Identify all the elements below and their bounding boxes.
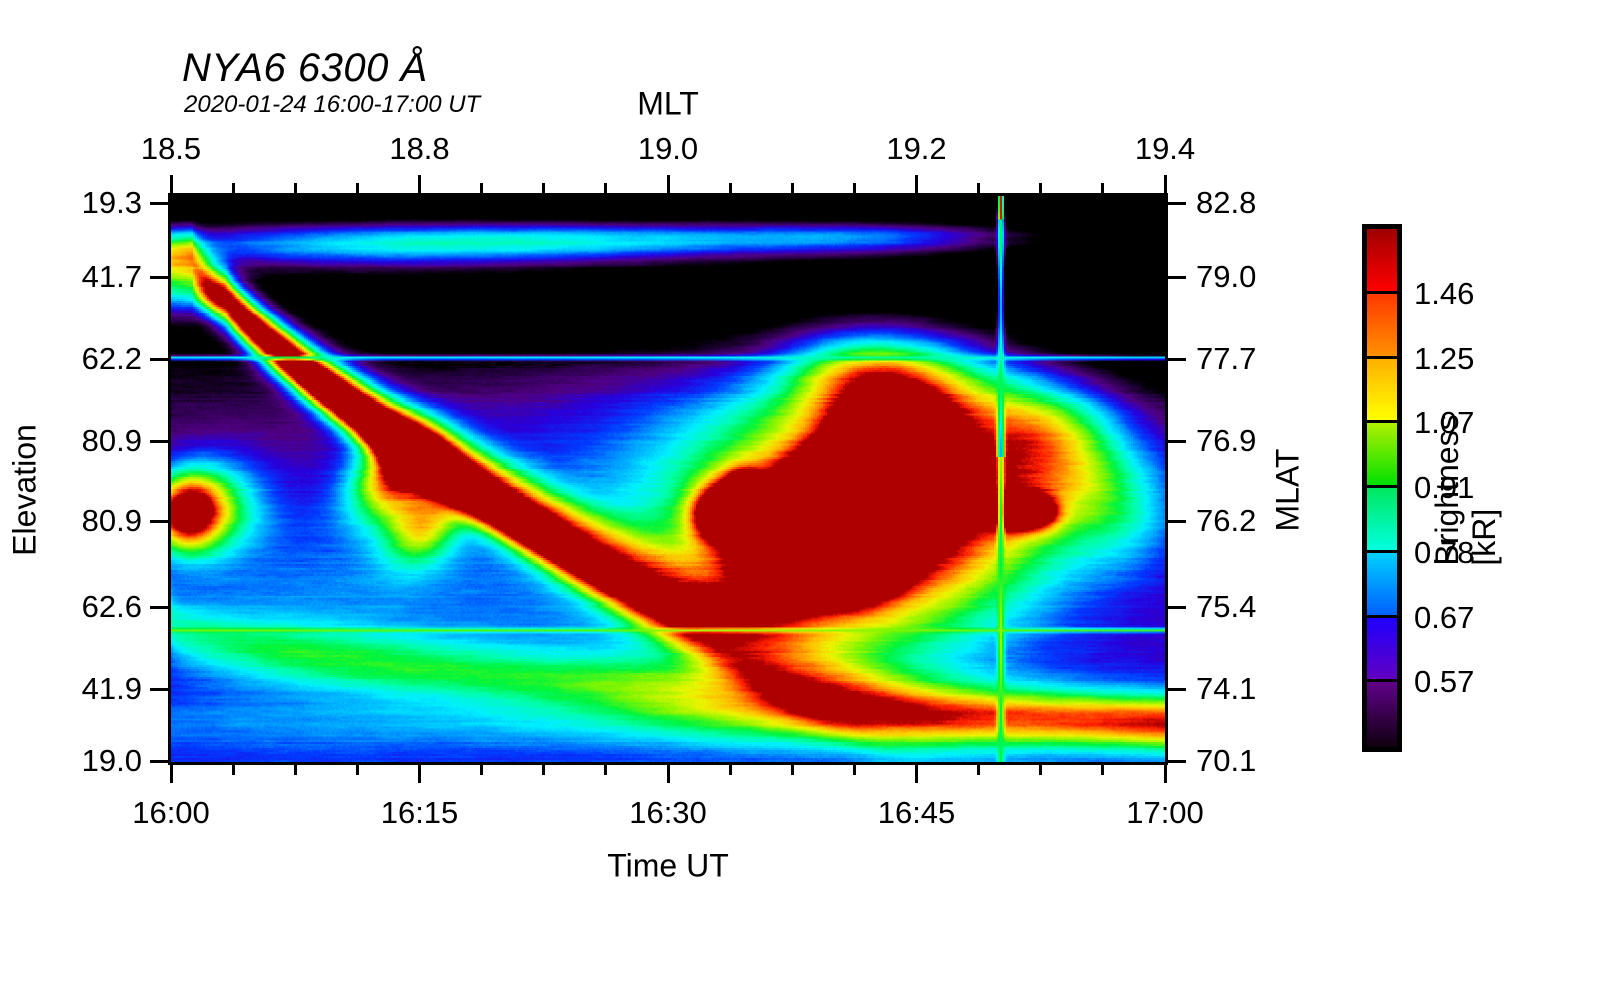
top-axis-minor-tick	[977, 183, 980, 193]
bottom-axis-major-tick	[915, 765, 918, 783]
right-axis-major-tick	[1168, 520, 1186, 523]
colorbar-segment-5	[1367, 553, 1397, 618]
right-axis-tick-label: 77.7	[1196, 341, 1256, 377]
colorbar-segment-6	[1367, 618, 1397, 683]
right-axis-tick-label: 70.1	[1196, 743, 1256, 779]
left-axis-title: Elevation	[7, 424, 44, 556]
left-axis-tick-label: 19.3	[82, 185, 142, 221]
colorbar-tick-label: 0.91	[1414, 470, 1474, 506]
right-axis-tick-label: 76.9	[1196, 423, 1256, 459]
colorbar-segment-2	[1367, 359, 1397, 424]
heatmap-image	[171, 196, 1165, 762]
keogram-plot-area	[168, 193, 1168, 765]
colorbar-tick-label: 1.07	[1414, 405, 1474, 441]
top-axis-major-tick	[418, 175, 421, 193]
left-axis-tick-label: 62.2	[82, 341, 142, 377]
top-axis-major-tick	[1164, 175, 1167, 193]
colorbar-tick-label: 1.46	[1414, 276, 1474, 312]
left-axis-tick-label: 80.9	[82, 423, 142, 459]
top-axis-minor-tick	[729, 183, 732, 193]
bottom-axis-minor-tick	[604, 765, 607, 775]
top-axis-minor-tick	[1039, 183, 1042, 193]
left-axis-major-tick	[150, 440, 168, 443]
left-axis-major-tick	[150, 276, 168, 279]
bottom-axis-major-tick	[418, 765, 421, 783]
left-axis-major-tick	[150, 520, 168, 523]
right-axis-major-tick	[1168, 358, 1186, 361]
colorbar-tick-label: 0.78	[1414, 535, 1474, 571]
plot-subtitle: 2020-01-24 16:00-17:00 UT	[184, 91, 480, 119]
bottom-axis-minor-tick	[853, 765, 856, 775]
right-axis-major-tick	[1168, 760, 1186, 763]
colorbar-segment-0	[1367, 229, 1397, 294]
left-axis-major-tick	[150, 358, 168, 361]
left-axis-tick-label: 41.7	[82, 259, 142, 295]
bottom-axis-tick-label: 16:15	[381, 795, 459, 831]
bottom-axis-major-tick	[1164, 765, 1167, 783]
top-axis-major-tick	[667, 175, 670, 193]
top-axis-minor-tick	[791, 183, 794, 193]
left-axis-tick-label: 19.0	[82, 743, 142, 779]
colorbar-tick-label: 0.57	[1414, 664, 1474, 700]
colorbar-segment-1	[1367, 294, 1397, 359]
top-axis-minor-tick	[1101, 183, 1104, 193]
bottom-axis-title: Time UT	[607, 848, 728, 885]
top-axis-tick-label: 19.0	[638, 131, 698, 167]
bottom-axis-minor-tick	[232, 765, 235, 775]
right-axis-major-tick	[1168, 606, 1186, 609]
plot-title: NYA6 6300 Å	[182, 46, 428, 91]
colorbar-segment-3	[1367, 423, 1397, 488]
bottom-axis-minor-tick	[1101, 765, 1104, 775]
colorbar-segment-7	[1367, 682, 1397, 747]
right-axis-tick-label: 75.4	[1196, 589, 1256, 625]
top-axis-tick-label: 19.2	[886, 131, 946, 167]
right-axis-tick-label: 79.0	[1196, 259, 1256, 295]
bottom-axis-tick-label: 16:30	[629, 795, 707, 831]
top-axis-minor-tick	[294, 183, 297, 193]
left-axis-tick-label: 41.9	[82, 671, 142, 707]
bottom-axis-minor-tick	[1039, 765, 1042, 775]
top-axis-tick-label: 18.5	[141, 131, 201, 167]
bottom-axis-tick-label: 16:00	[132, 795, 210, 831]
top-axis-minor-tick	[604, 183, 607, 193]
right-axis-major-tick	[1168, 276, 1186, 279]
left-axis-major-tick	[150, 606, 168, 609]
left-axis-tick-label: 62.6	[82, 589, 142, 625]
right-axis-major-tick	[1168, 688, 1186, 691]
bottom-axis-minor-tick	[294, 765, 297, 775]
top-axis-minor-tick	[480, 183, 483, 193]
right-axis-tick-label: 82.8	[1196, 185, 1256, 221]
bottom-axis-tick-label: 17:00	[1126, 795, 1204, 831]
bottom-axis-minor-tick	[977, 765, 980, 775]
colorbar-tick-label: 1.25	[1414, 341, 1474, 377]
bottom-axis-minor-tick	[542, 765, 545, 775]
top-axis-tick-label: 18.8	[389, 131, 449, 167]
left-axis-tick-label: 80.9	[82, 503, 142, 539]
bottom-axis-minor-tick	[356, 765, 359, 775]
top-axis-major-tick	[170, 175, 173, 193]
left-axis-major-tick	[150, 688, 168, 691]
top-axis-title: MLT	[637, 86, 699, 123]
colorbar-gradient	[1367, 229, 1397, 747]
top-axis-minor-tick	[542, 183, 545, 193]
top-axis-major-tick	[915, 175, 918, 193]
colorbar	[1362, 224, 1402, 752]
bottom-axis-minor-tick	[791, 765, 794, 775]
bottom-axis-major-tick	[170, 765, 173, 783]
right-axis-major-tick	[1168, 202, 1186, 205]
bottom-axis-minor-tick	[729, 765, 732, 775]
top-axis-tick-label: 19.4	[1135, 131, 1195, 167]
colorbar-tick-label: 0.67	[1414, 600, 1474, 636]
right-axis-major-tick	[1168, 440, 1186, 443]
colorbar-segment-4	[1367, 488, 1397, 553]
right-axis-title: MLAT	[1270, 449, 1307, 532]
bottom-axis-minor-tick	[480, 765, 483, 775]
top-axis-minor-tick	[232, 183, 235, 193]
left-axis-major-tick	[150, 202, 168, 205]
bottom-axis-tick-label: 16:45	[878, 795, 956, 831]
bottom-axis-major-tick	[667, 765, 670, 783]
left-axis-major-tick	[150, 760, 168, 763]
top-axis-minor-tick	[853, 183, 856, 193]
right-axis-tick-label: 76.2	[1196, 503, 1256, 539]
right-axis-tick-label: 74.1	[1196, 671, 1256, 707]
top-axis-minor-tick	[356, 183, 359, 193]
